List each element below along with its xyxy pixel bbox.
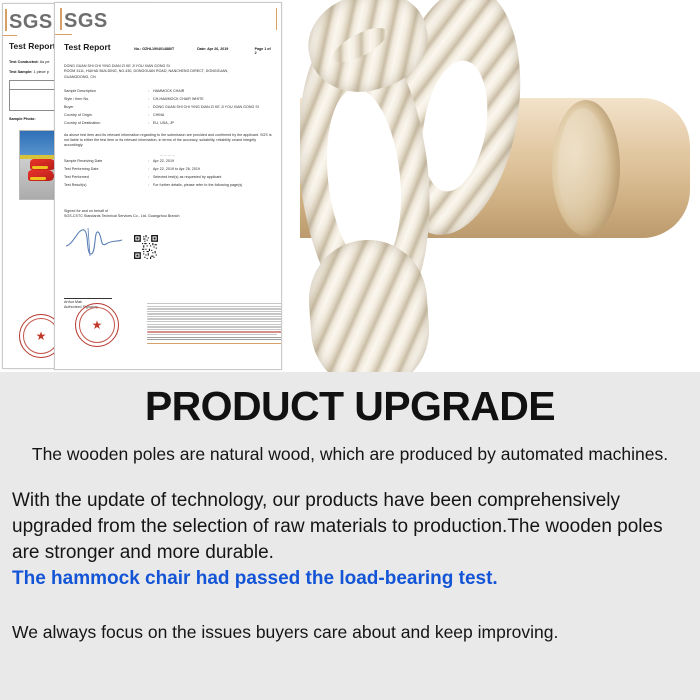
field-row: Country of Origin : CHINA <box>64 113 272 118</box>
sgs-logo-text: SGS <box>9 11 53 33</box>
sgs-test-report-page-front: SGS Test Report No.: GZHL1904014880T Dat… <box>54 2 282 370</box>
date-key: Test Performing Date <box>64 167 148 172</box>
field-value: CHINA <box>153 113 272 118</box>
report-no-label: No.: <box>134 47 141 51</box>
date-key: Test Performed <box>64 175 148 180</box>
sample-photo-hammock-chair-2 <box>28 170 54 181</box>
date-fields: Sample Receiving Date : Apr 22, 2019 Tes… <box>64 159 272 188</box>
wooden-pole-end-cap <box>552 100 620 236</box>
report-title: Test Report <box>64 42 124 52</box>
section-divider-dashes: ———— <box>64 153 272 157</box>
test-conducted-label: Test Conducted: <box>9 60 39 64</box>
page-title: PRODUCT UPGRADE <box>0 372 700 427</box>
member-of-sgs-group-note: Member of the SGS Group (SGS SA) <box>147 346 282 349</box>
top-image-band: SGS Test Report Test Conducted: As pe Te… <box>0 0 700 372</box>
submission-disclaimer: As above test item and its relevant info… <box>64 133 272 149</box>
rope-and-pole-photo <box>300 0 700 372</box>
product-upgrade-panel: PRODUCT UPGRADE The wooden poles are nat… <box>0 372 700 700</box>
date-value: For further details, please refer to the… <box>153 183 272 188</box>
date-row: Test Performing Date : Apr 22, 2019 to A… <box>64 167 272 172</box>
field-row: Sample Description : HAMMOCK CHAIR <box>64 89 272 94</box>
date-key: Sample Receiving Date <box>64 159 148 164</box>
date-row: Sample Receiving Date : Apr 22, 2019 <box>64 159 272 164</box>
field-row: Style / Item No. : CH-HAMMOCK CHAIR WHIT… <box>64 97 272 102</box>
signature-rule <box>64 298 112 299</box>
report-page-label: Page 1 of 2 <box>255 47 272 55</box>
product-upgrade-infographic: SGS Test Report Test Conducted: As pe Te… <box>0 0 700 700</box>
field-value: EU, USA, JP <box>153 121 272 126</box>
sample-fields: Sample Description : HAMMOCK CHAIR Style… <box>64 89 272 126</box>
load-bearing-highlight: The hammock chair had passed the load-be… <box>0 566 700 591</box>
signed-on-behalf-line-2: SGS-CSTC Standards Technical Services Co… <box>64 214 264 219</box>
sgs-red-stamp-front: ★ <box>75 303 119 347</box>
date-value: Apr 22, 2019 to Apr 26, 2019 <box>153 167 272 172</box>
footer-terms-fineprint: Member of the SGS Group (SGS SA) <box>147 303 282 349</box>
field-key: Country of Destination <box>64 121 148 126</box>
sgs-logo-text-front: SGS <box>64 10 108 32</box>
field-row: Buyer : DONG GUAN SHI CHI YING DIAN ZI K… <box>64 105 272 110</box>
lead-text: The wooden poles are natural wood, which… <box>0 444 700 465</box>
field-key: Sample Description <box>64 89 148 94</box>
field-row: Country of Destination : EU, USA, JP <box>64 121 272 126</box>
field-key: Country of Origin <box>64 113 148 118</box>
date-row: Test Performed : Selected test(s) as req… <box>64 175 272 180</box>
qr-code-icon <box>134 235 158 259</box>
date-value: Selected test(s) as requested by applica… <box>153 175 272 180</box>
sgs-logo-front: SGS <box>64 11 272 31</box>
sample-photo-hammock-chair-1 <box>30 159 56 170</box>
field-value: HAMMOCK CHAIR <box>153 89 272 94</box>
report-date-label: Date: <box>197 47 206 51</box>
report-no-value: GZHL1904014880T <box>142 47 174 51</box>
date-row: Test Result(s) : For further details, pl… <box>64 183 272 188</box>
handwritten-signature-icon <box>64 224 124 258</box>
field-key: Buyer <box>64 105 148 110</box>
upgrade-paragraph: With the update of technology, our produ… <box>0 488 700 565</box>
company-line-2: GUANGDONG, CN <box>64 75 272 80</box>
test-sample-value: 1 piece p <box>33 70 48 74</box>
field-value: CH-HAMMOCK CHAIR WHITE <box>153 97 272 102</box>
field-key: Style / Item No. <box>64 97 148 102</box>
test-sample-label: Test Sample: <box>9 70 32 74</box>
date-key: Test Result(s) <box>64 183 148 188</box>
closing-text: We always focus on the issues buyers car… <box>0 622 700 643</box>
test-conducted-value: As pe <box>40 60 50 64</box>
date-value: Apr 22, 2019 <box>153 159 272 164</box>
field-value: DONG GUAN SHI CHI YING DIAN ZI KE JI YOU… <box>153 105 272 110</box>
report-date-value: Apr 26, 2019 <box>207 47 228 51</box>
report-meta-row: Test Report No.: GZHL1904014880T Date: A… <box>64 42 272 55</box>
company-address: DONG GUAN SHI CHI YING DIAN ZI KE JI YOU… <box>64 64 272 80</box>
signature-block: Signed for and on behalf of SGS-CSTC Sta… <box>64 209 264 311</box>
